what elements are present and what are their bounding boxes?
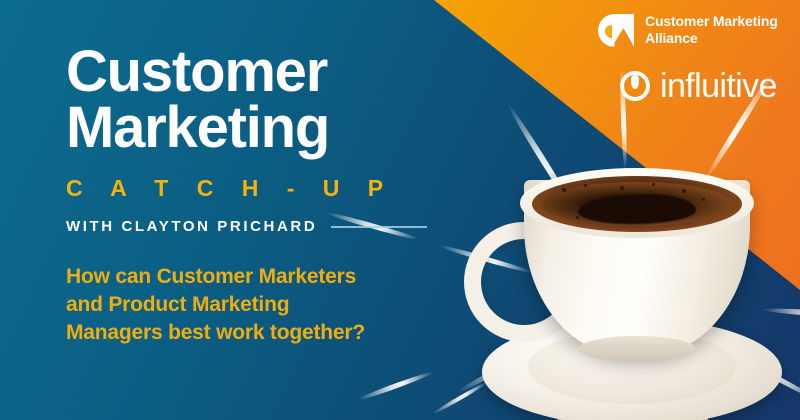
cma-monogram-icon bbox=[598, 14, 634, 47]
cma-wordmark-line-1: Customer Marketing bbox=[645, 13, 778, 30]
divider-rule bbox=[331, 226, 427, 228]
cma-wordmark-line-2: Alliance bbox=[645, 30, 778, 47]
question-line-1: How can Customer Marketers bbox=[66, 263, 466, 291]
influitive-power-icon bbox=[620, 71, 650, 101]
series-label: C A T C H - U P bbox=[66, 175, 466, 202]
question-line-2: and Product Marketing bbox=[66, 291, 466, 319]
influitive-logo: influitive bbox=[620, 69, 777, 103]
host-label: WITH CLAYTON PRICHARD bbox=[66, 218, 317, 235]
headline-block: Customer Marketing C A T C H - U P WITH … bbox=[66, 44, 466, 347]
influitive-wordmark: influitive bbox=[660, 69, 777, 103]
title-line-1: Customer bbox=[66, 44, 466, 100]
page-title: Customer Marketing bbox=[66, 44, 466, 155]
cma-logo: Customer Marketing Alliance bbox=[598, 13, 778, 47]
question-line-3: Managers best work together? bbox=[66, 319, 466, 347]
coffee-surface bbox=[532, 176, 742, 232]
promo-graphic: Customer Marketing C A T C H - U P WITH … bbox=[0, 0, 800, 420]
question-text: How can Customer Marketers and Product M… bbox=[66, 263, 466, 347]
host-row: WITH CLAYTON PRICHARD bbox=[66, 218, 466, 235]
coffee-cup-illustration bbox=[470, 170, 800, 420]
cma-wordmark: Customer Marketing Alliance bbox=[645, 13, 778, 47]
title-line-2: Marketing bbox=[66, 100, 466, 156]
sparkle-ray bbox=[357, 369, 434, 401]
cup-foot bbox=[578, 336, 696, 362]
